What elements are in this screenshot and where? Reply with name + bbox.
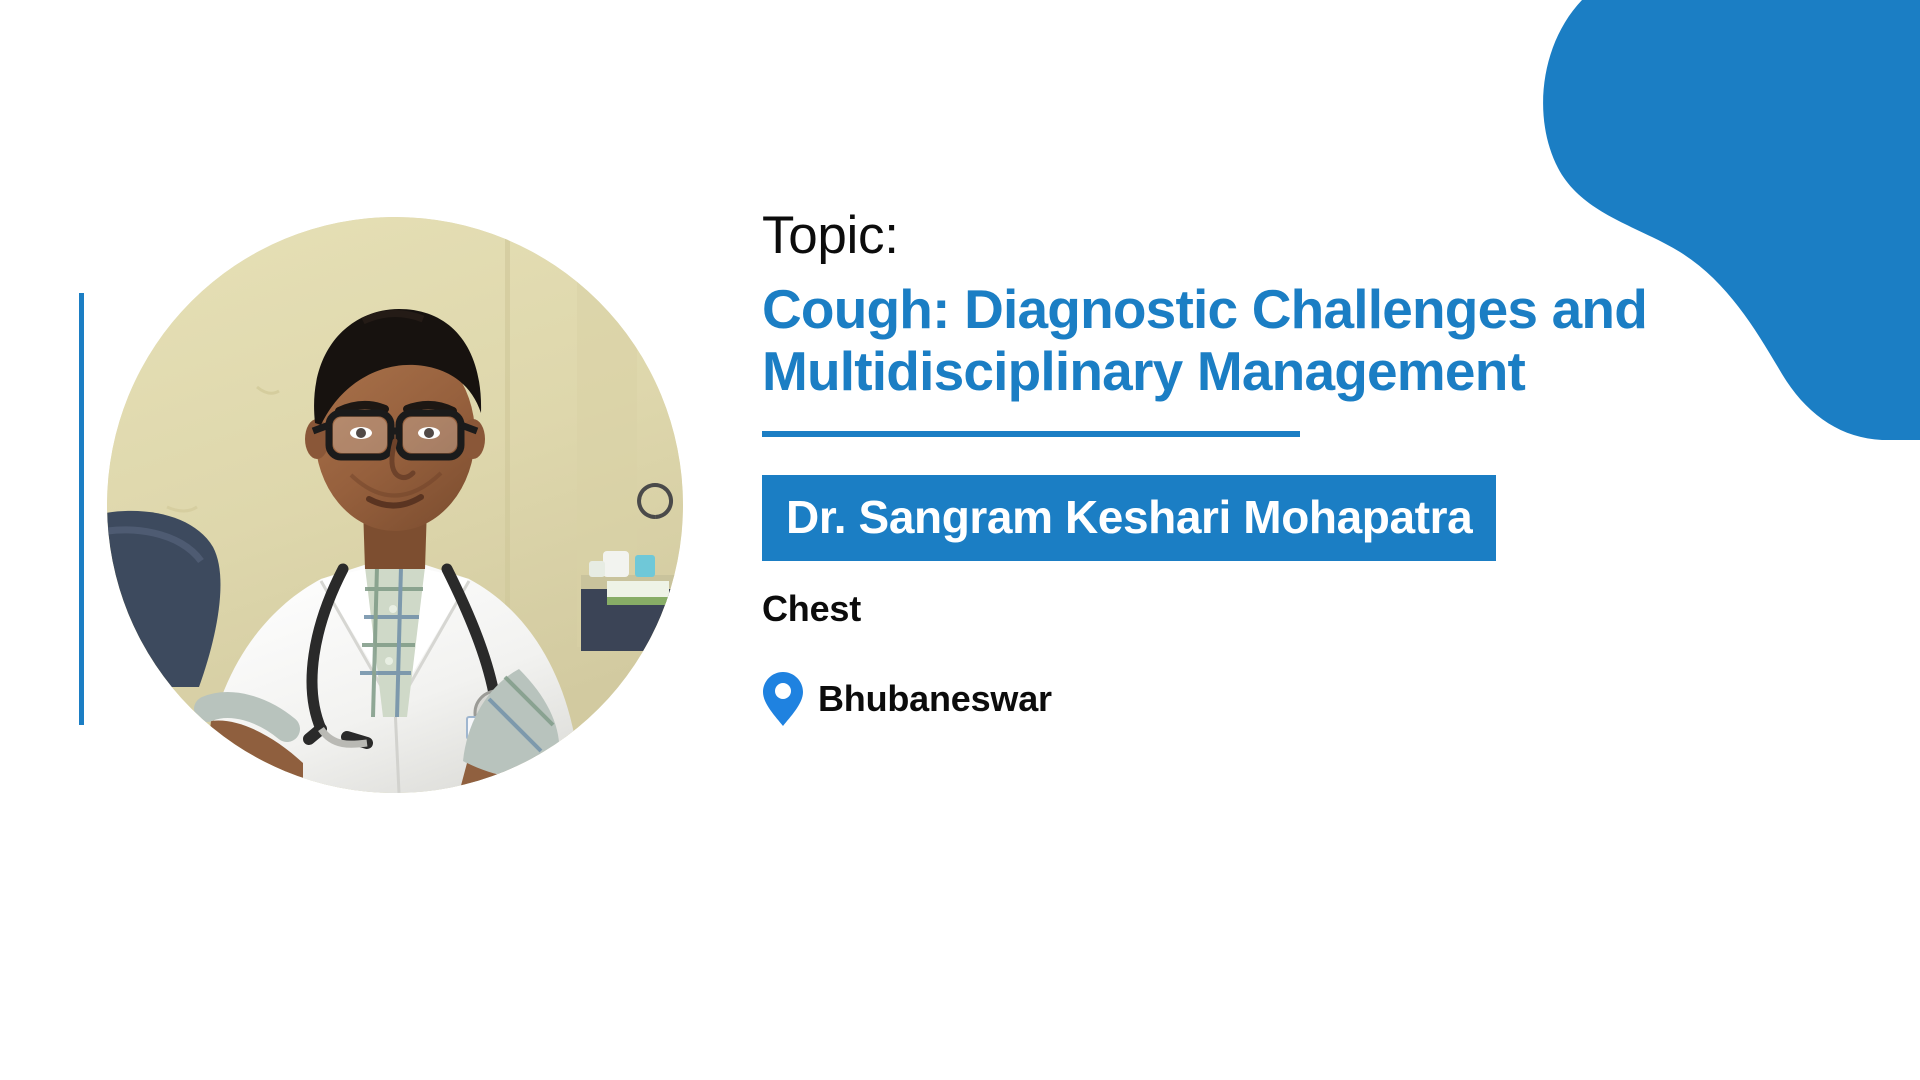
speaker-location-row: Bhubaneswar (762, 671, 1852, 727)
title-divider-rule (762, 431, 1300, 437)
topic-label: Topic: (762, 208, 1852, 264)
speaker-portrait-photo (107, 217, 683, 793)
left-vertical-accent-rule (79, 293, 84, 725)
map-pin-icon (762, 671, 804, 727)
speaker-announcement-slide: Topic: Cough: Diagnostic Challenges and … (0, 0, 1920, 1080)
speaker-name: Dr. Sangram Keshari Mohapatra (786, 494, 1472, 540)
speaker-speciality: Chest (762, 591, 1852, 627)
talk-title: Cough: Diagnostic Challenges and Multidi… (762, 278, 1762, 403)
speaker-name-banner: Dr. Sangram Keshari Mohapatra (762, 475, 1496, 561)
slide-content-column: Topic: Cough: Diagnostic Challenges and … (762, 208, 1852, 727)
speaker-location-name: Bhubaneswar (818, 681, 1052, 717)
